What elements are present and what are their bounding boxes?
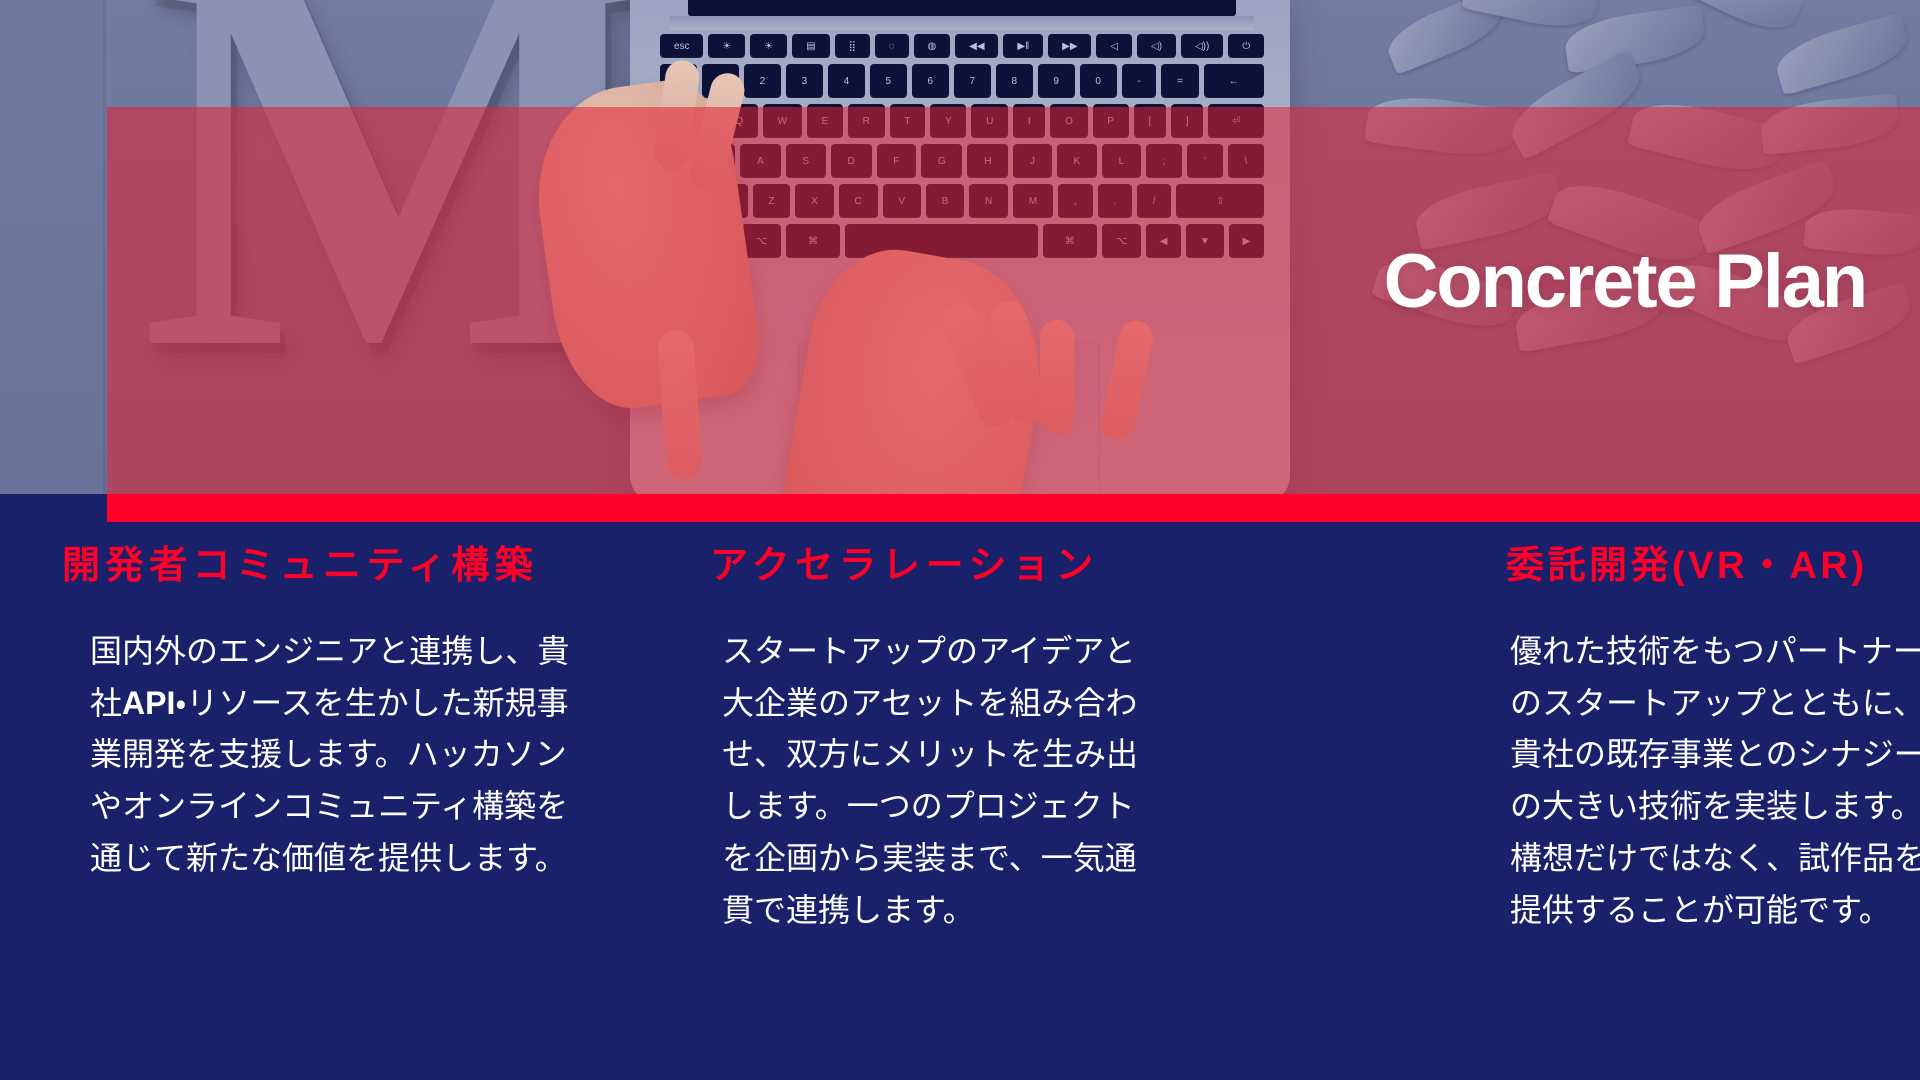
key-8: 8 bbox=[996, 64, 1033, 98]
key-b: B bbox=[926, 184, 964, 218]
key-shift-right: ⇧ bbox=[1176, 184, 1264, 218]
left-wall-panel bbox=[0, 0, 107, 494]
hero-photo: M esc bbox=[0, 0, 1920, 494]
key-quote: ' bbox=[1187, 144, 1222, 178]
key-5: 5 bbox=[870, 64, 907, 98]
key-i: I bbox=[1013, 104, 1045, 138]
key-semicolon: ; bbox=[1146, 144, 1182, 178]
key-period: . bbox=[1098, 184, 1132, 218]
key-f2: ☀ bbox=[750, 34, 787, 58]
column-body: 優れた技術をもつパートナーのスタートアップとともに、貴社の既存事業とのシナジーの… bbox=[1506, 626, 1920, 937]
key-bracket-left: [ bbox=[1134, 104, 1166, 138]
keyboard-row-function: esc ☀ ☀ ▤ ⣿ ◌ ◍ ◀◀ ▶‖ ▶▶ ◁ ◁) ◁)) ⏻ bbox=[654, 34, 1270, 58]
key-t: T bbox=[890, 104, 926, 138]
key-f6: ◍ bbox=[914, 34, 951, 58]
column-acceleration: アクセラレーション スタートアップのアイデアと大企業のアセットを組み合わせ、双方… bbox=[662, 546, 1262, 937]
key-arrow-right: ▶ bbox=[1229, 224, 1264, 258]
key-l: L bbox=[1102, 144, 1141, 178]
key-return: ⏎ bbox=[1208, 104, 1264, 138]
key-u: U bbox=[971, 104, 1008, 138]
slide-root: M esc bbox=[0, 0, 1920, 1080]
key-power: ⏻ bbox=[1228, 34, 1264, 58]
key-e: E bbox=[807, 104, 843, 138]
column-contract-development: 委託開発(VR・AR) 優れた技術をもつパートナーのスタートアップとともに、貴社… bbox=[1262, 546, 1862, 937]
keyboard-row-top: ⇥ Q W E R T Y U I O P [ ] ⏎ bbox=[654, 104, 1270, 138]
right-hand-finger-3 bbox=[1040, 320, 1074, 435]
key-6: 6 bbox=[912, 64, 949, 98]
key-7: 7 bbox=[954, 64, 991, 98]
key-w: W bbox=[763, 104, 802, 138]
key-z: Z bbox=[753, 184, 791, 218]
keyboard-row-numbers: § 1 2 3 4 5 6 7 8 9 0 - = ← bbox=[654, 64, 1270, 98]
key-command-right: ⌘ bbox=[1043, 224, 1097, 258]
key-f: F bbox=[877, 144, 917, 178]
key-3: 3 bbox=[786, 64, 823, 98]
key-arrow-left: ◀ bbox=[1146, 224, 1181, 258]
key-backspace: ← bbox=[1204, 64, 1264, 98]
key-s: S bbox=[786, 144, 826, 178]
column-body-bold: API bbox=[122, 685, 175, 721]
key-x: X bbox=[795, 184, 833, 218]
key-minus: - bbox=[1122, 64, 1157, 98]
red-divider-bar bbox=[107, 494, 1920, 522]
key-option-right: ⌥ bbox=[1102, 224, 1141, 258]
laptop-screen-edge bbox=[688, 0, 1236, 16]
page-title: Concrete Plan bbox=[1384, 244, 1866, 320]
key-f7: ◀◀ bbox=[955, 34, 998, 58]
key-esc: esc bbox=[660, 34, 703, 58]
key-f3: ▤ bbox=[792, 34, 829, 58]
content-area: 開発者コミュニティ構築 国内外のエンジニアと連携し、貴社API・リソースを生かし… bbox=[0, 522, 1920, 1080]
wall-seam bbox=[103, 0, 109, 494]
key-c: C bbox=[839, 184, 878, 218]
key-9: 9 bbox=[1038, 64, 1075, 98]
key-f1: ☀ bbox=[708, 34, 745, 58]
key-g: G bbox=[921, 144, 962, 178]
key-f12: ◁)) bbox=[1181, 34, 1223, 58]
wall-letter-m: M bbox=[140, 0, 430, 370]
column-title: 委託開発(VR・AR) bbox=[1506, 546, 1862, 588]
key-4: 4 bbox=[828, 64, 865, 98]
key-r: R bbox=[848, 104, 885, 138]
column-developer-community: 開発者コミュニティ構築 国内外のエンジニアと連携し、貴社API・リソースを生かし… bbox=[62, 546, 662, 937]
column-body-prefix: 優れた技術をもつパートナーのスタートアップとともに、貴社の既存事業とのシナジーの… bbox=[1510, 633, 1920, 928]
key-command-left: ⌘ bbox=[786, 224, 840, 258]
key-o: O bbox=[1050, 104, 1087, 138]
key-equals: = bbox=[1161, 64, 1198, 98]
key-n: N bbox=[969, 184, 1008, 218]
plant-decoration bbox=[1355, 0, 1920, 400]
key-f11: ◁) bbox=[1137, 34, 1176, 58]
key-f10: ◁ bbox=[1096, 34, 1132, 58]
columns-container: 開発者コミュニティ構築 国内外のエンジニアと連携し、貴社API・リソースを生かし… bbox=[62, 546, 1862, 937]
key-v: V bbox=[883, 184, 921, 218]
key-comma: , bbox=[1058, 184, 1092, 218]
key-slash: / bbox=[1137, 184, 1171, 218]
key-2: 2 bbox=[744, 64, 781, 98]
key-k: K bbox=[1057, 144, 1097, 178]
key-bracket-right: ] bbox=[1171, 104, 1203, 138]
key-f4: ⣿ bbox=[835, 34, 870, 58]
column-body: 国内外のエンジニアと連携し、貴社API・リソースを生かした新規事業開発を支援しま… bbox=[62, 626, 580, 885]
key-f5: ◌ bbox=[875, 34, 909, 58]
key-a: A bbox=[740, 144, 780, 178]
key-0: 0 bbox=[1080, 64, 1117, 98]
key-arrow-down: ▼ bbox=[1186, 224, 1223, 258]
key-h: H bbox=[967, 144, 1008, 178]
key-f9: ▶▶ bbox=[1048, 34, 1091, 58]
key-d: D bbox=[831, 144, 872, 178]
key-y: Y bbox=[930, 104, 966, 138]
laptop-hinge bbox=[670, 16, 1254, 30]
column-body-prefix: スタートアップのアイデアと大企業のアセットを組み合わせ、双方にメリットを生み出し… bbox=[722, 633, 1138, 928]
keyboard-row-home: ⇪ A S D F G H J K L ; ' \ bbox=[654, 144, 1270, 178]
column-body: スタートアップのアイデアと大企業のアセットを組み合わせ、双方にメリットを生み出し… bbox=[710, 626, 1152, 937]
keyboard-row-bottom: ⇧ Z X C V B N M , . / ⇧ bbox=[654, 184, 1270, 218]
key-option-left: ⌥ bbox=[742, 224, 781, 258]
key-backslash: \ bbox=[1228, 144, 1264, 178]
key-j: J bbox=[1013, 144, 1052, 178]
key-f8: ▶‖ bbox=[1003, 34, 1043, 58]
column-title: アクセラレーション bbox=[710, 546, 1262, 588]
column-title: 開発者コミュニティ構築 bbox=[62, 546, 662, 588]
key-m: M bbox=[1013, 184, 1053, 218]
key-p: P bbox=[1093, 104, 1129, 138]
